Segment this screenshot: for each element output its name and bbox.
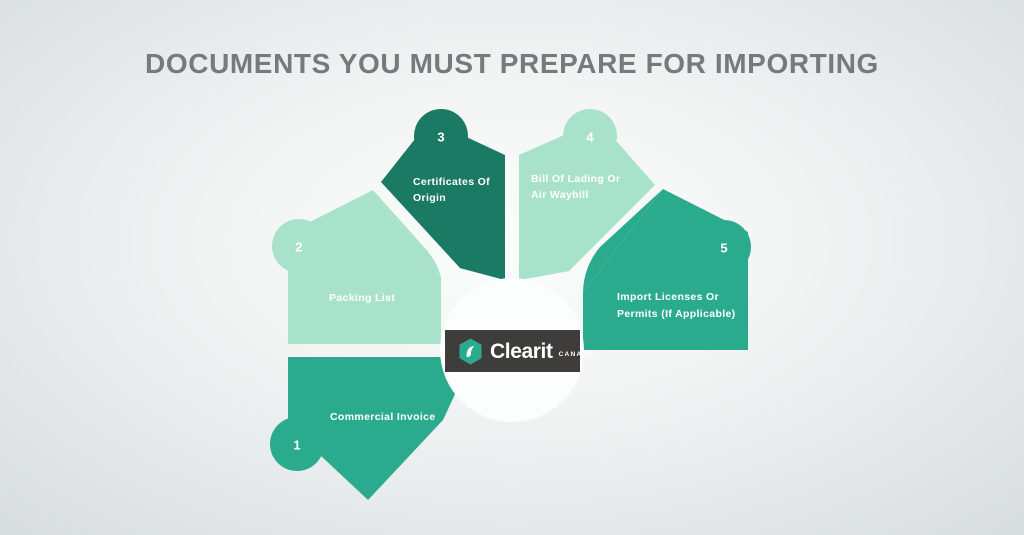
hexagon-cube-icon bbox=[458, 338, 483, 365]
segment-3-label-line-1: Certificates Of bbox=[413, 176, 490, 188]
segment-5-label-line-1: Import Licenses Or bbox=[617, 291, 719, 303]
segment-1-number: 1 bbox=[293, 438, 300, 453]
logo-region: CANADA bbox=[559, 351, 595, 358]
segment-1-label-line-1: Commercial Invoice bbox=[330, 411, 436, 423]
clearit-logo[interactable]: Clearit CANADA bbox=[445, 330, 580, 372]
segment-5-label-line-2: Permits (If Applicable) bbox=[617, 308, 736, 320]
segment-5-number: 5 bbox=[720, 241, 727, 256]
segment-3-label-line-2: Origin bbox=[413, 192, 446, 204]
infographic-canvas: DOCUMENTS YOU MUST PREPARE FOR IMPORTING… bbox=[0, 0, 1024, 535]
segment-2-label-line-1: Packing List bbox=[329, 292, 395, 304]
segment-4-number: 4 bbox=[586, 130, 594, 145]
segment-4-label-line-1: Bill Of Lading Or bbox=[531, 173, 620, 185]
segment-1[interactable]: 1 Commercial Invoice bbox=[270, 357, 456, 500]
logo-wordmark: Clearit bbox=[490, 341, 553, 362]
segment-2-number: 2 bbox=[295, 240, 302, 255]
segment-4-label-line-2: Air Waybill bbox=[531, 189, 589, 201]
segment-3-number: 3 bbox=[437, 130, 444, 145]
documents-wheel-diagram: 5 Import Licenses Or Permits (If Applica… bbox=[0, 0, 1024, 535]
